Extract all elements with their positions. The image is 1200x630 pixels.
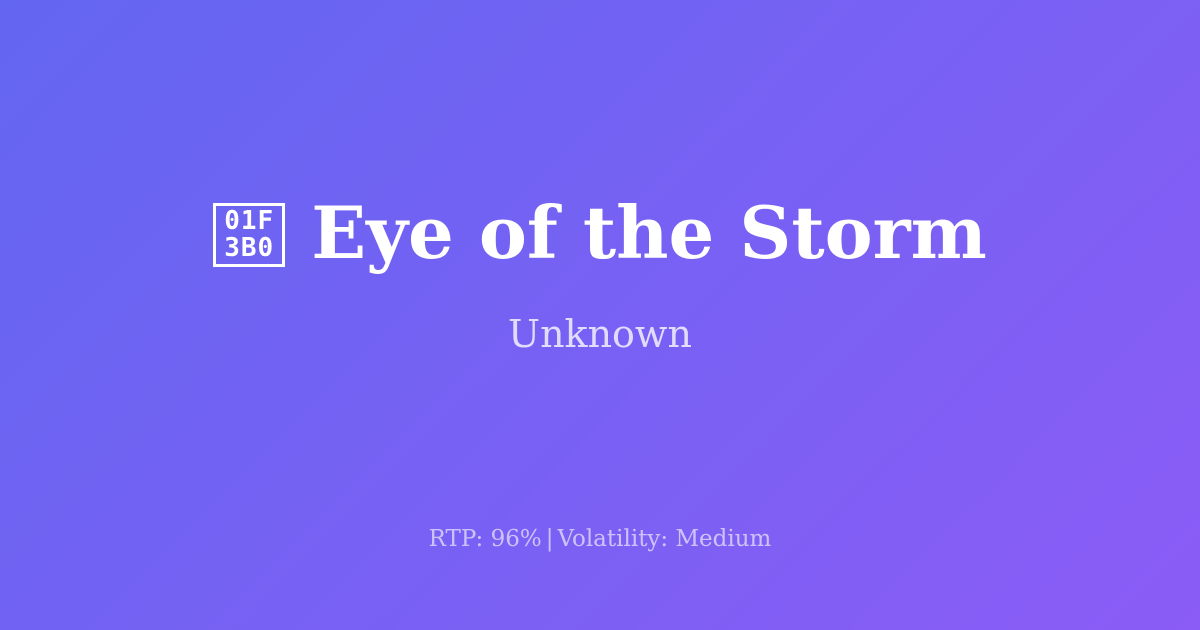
tofu-codepoint-line-1: 01F [224,208,274,235]
game-hero-card: 01F 3B0 Eye of the Storm Unknown RTP: 96… [0,0,1200,630]
game-title-text: Eye of the Storm [311,197,987,269]
slot-machine-icon: 01F 3B0 [213,203,285,267]
rtp-value: RTP: 96% [429,526,542,552]
page-title: 01F 3B0 Eye of the Storm [213,197,987,269]
title-block: 01F 3B0 Eye of the Storm Unknown [0,0,1200,550]
volatility-value: Volatility: Medium [557,526,771,552]
tofu-codepoint-line-2: 3B0 [224,235,274,262]
meta-separator: | [542,526,558,552]
game-provider-subtitle: Unknown [508,315,692,353]
game-meta-line: RTP: 96%|Volatility: Medium [0,528,1200,551]
